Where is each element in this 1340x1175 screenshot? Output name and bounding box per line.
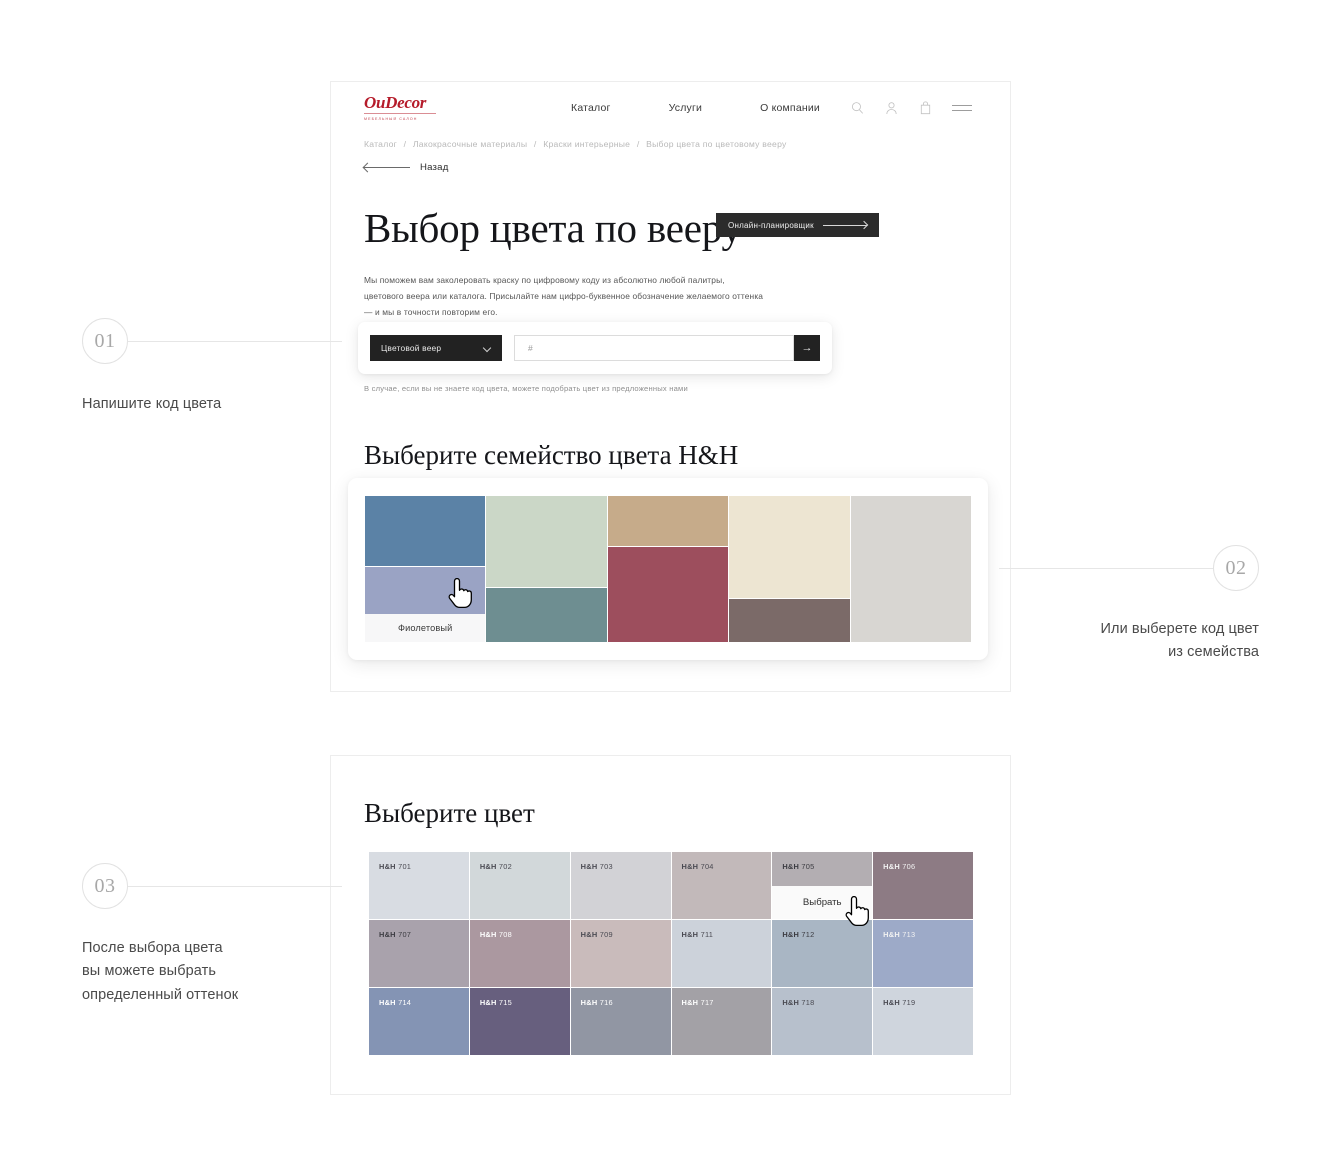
swatch-number: 718	[801, 998, 814, 1007]
swatch-cell[interactable]: H&H 701	[369, 852, 469, 919]
nav-item-about[interactable]: О компании	[760, 102, 820, 114]
bag-icon[interactable]	[918, 100, 933, 116]
swatch-code: H&H 719	[883, 998, 915, 1007]
swatch-grid: H&H 701 H&H 702 H&H 703 H&H 704	[369, 852, 973, 1055]
annotation-line: Или выберете код цвет	[999, 618, 1259, 641]
swatch-prefix: H&H	[480, 930, 497, 939]
family-column-violet[interactable]: Фиолетовый	[365, 496, 485, 642]
swatch-code: H&H 709	[581, 930, 613, 939]
swatch-section-title: Выберите цвет	[364, 798, 535, 829]
swatch-cell[interactable]: H&H 715	[470, 988, 570, 1055]
intro-line-2: цветового веера или каталога. Присылайте…	[364, 288, 763, 304]
family-swatch-top[interactable]	[365, 496, 485, 566]
arrow-right-icon	[824, 222, 867, 229]
annotation-connector-line	[128, 886, 342, 887]
swatch-prefix: H&H	[883, 930, 900, 939]
family-card: Фиолетовый	[348, 478, 988, 660]
family-column-cream-brown[interactable]	[729, 496, 849, 642]
swatch-cell-selected[interactable]: H&H 705 Выбрать	[772, 852, 872, 919]
back-link[interactable]: Назад	[364, 162, 449, 173]
swatch-code: H&H 718	[782, 998, 814, 1007]
color-code-placeholder: #	[528, 343, 533, 353]
swatch-code: H&H 713	[883, 930, 915, 939]
swatch-cell[interactable]: H&H 716	[571, 988, 671, 1055]
swatch-code: H&H 716	[581, 998, 613, 1007]
family-grid: Фиолетовый	[365, 496, 971, 642]
swatch-prefix: H&H	[379, 930, 396, 939]
annotation-connector-line	[999, 568, 1213, 569]
swatch-code: H&H 717	[682, 998, 714, 1007]
form-hint: В случае, если вы не знаете код цвета, м…	[364, 384, 688, 393]
swatch-cell[interactable]: H&H 702	[470, 852, 570, 919]
family-column-beige-red[interactable]	[608, 496, 728, 642]
logo-rule	[364, 113, 436, 114]
swatch-number: 708	[499, 930, 512, 939]
annotation-text: После выбора цвета вы можете выбрать опр…	[82, 937, 342, 1007]
swatch-code: H&H 704	[682, 862, 714, 871]
online-planner-label: Онлайн-планировщик	[728, 221, 814, 230]
nav-item-services[interactable]: Услуги	[669, 102, 703, 114]
arrow-left-icon	[364, 163, 410, 172]
swatch-number: 704	[701, 862, 714, 871]
swatch-number: 703	[600, 862, 613, 871]
logo-subtitle: МЕБЕЛЬНЫЙ САЛОН	[364, 117, 444, 121]
swatch-cell[interactable]: H&H 704	[672, 852, 772, 919]
swatch-cell[interactable]: H&H 717	[672, 988, 772, 1055]
swatch-prefix: H&H	[581, 998, 598, 1007]
arrow-right-icon: →	[802, 343, 813, 354]
swatch-number: 715	[499, 998, 512, 1007]
swatch-cell[interactable]: H&H 709	[571, 920, 671, 987]
swatch-code: H&H 712	[782, 930, 814, 939]
annotation-line: После выбора цвета	[82, 937, 342, 960]
swatch-prefix: H&H	[682, 862, 699, 871]
breadcrumb-item-0[interactable]: Каталог	[364, 139, 397, 149]
chevron-down-icon	[484, 345, 491, 352]
back-label: Назад	[420, 162, 449, 173]
swatch-cell[interactable]: H&H 714	[369, 988, 469, 1055]
swatch-number: 711	[701, 930, 714, 939]
logo-wordmark: OuDecor	[364, 94, 444, 111]
main-nav: Каталог Услуги О компании	[571, 102, 820, 114]
online-planner-button[interactable]: Онлайн-планировщик	[716, 213, 879, 237]
annotation-text: Или выберете код цвет из семейства	[999, 618, 1259, 665]
swatch-code: H&H 715	[480, 998, 512, 1007]
logo[interactable]: OuDecor МЕБЕЛЬНЫЙ САЛОН	[364, 94, 444, 121]
swatch-cell[interactable]: H&H 719	[873, 988, 973, 1055]
page-title: Выбор цвета по вееру	[364, 204, 742, 252]
swatch-prefix: H&H	[480, 862, 497, 871]
page-card-bottom: Выберите цвет H&H 701 H&H 702 H&H 703	[330, 755, 1011, 1095]
swatch-code: H&H 708	[480, 930, 512, 939]
annotation-01: 01 Напишите код цвета	[82, 318, 342, 416]
breadcrumb-item-1[interactable]: Лакокрасочные материалы	[413, 139, 527, 149]
swatch-prefix: H&H	[782, 862, 799, 871]
swatch-cell[interactable]: H&H 703	[571, 852, 671, 919]
family-swatch-top[interactable]	[486, 496, 606, 587]
family-label-violet: Фиолетовый	[365, 614, 485, 642]
swatch-prefix: H&H	[782, 930, 799, 939]
swatch-prefix: H&H	[379, 862, 396, 871]
swatch-prefix: H&H	[883, 998, 900, 1007]
swatch-prefix: H&H	[581, 862, 598, 871]
family-swatch-bottom[interactable]	[729, 599, 849, 642]
color-code-input[interactable]: #	[514, 335, 794, 361]
annotation-number-badge: 03	[82, 863, 128, 909]
breadcrumb: Каталог / Лакокрасочные материалы / Крас…	[364, 139, 787, 149]
swatch-code: H&H 703	[581, 862, 613, 871]
swatch-code: H&H 702	[480, 862, 512, 871]
swatch-number: 707	[398, 930, 411, 939]
breadcrumb-item-3: Выбор цвета по цветовому вееру	[646, 139, 786, 149]
annotation-connector-line	[128, 341, 342, 342]
select-swatch-button[interactable]: Выбрать	[772, 886, 872, 919]
swatch-number: 701	[398, 862, 411, 871]
page-root: OuDecor МЕБЕЛЬНЫЙ САЛОН Каталог Услуги О…	[0, 0, 1340, 1175]
swatch-code: H&H 707	[379, 930, 411, 939]
annotation-line: определенный оттенок	[82, 984, 342, 1007]
swatch-number: 713	[902, 930, 915, 939]
swatch-number: 702	[499, 862, 512, 871]
swatch-number: 709	[600, 930, 613, 939]
family-swatch-top[interactable]	[608, 496, 728, 546]
swatch-prefix: H&H	[581, 930, 598, 939]
swatch-cell[interactable]: H&H 718	[772, 988, 872, 1055]
intro-line-3: — и мы в точности повторим его.	[364, 304, 763, 320]
swatch-prefix: H&H	[379, 998, 396, 1007]
swatch-number: 705	[801, 862, 814, 871]
nav-item-catalog[interactable]: Каталог	[571, 102, 611, 114]
swatch-cell[interactable]: H&H 711	[672, 920, 772, 987]
annotation-03: 03 После выбора цвета вы можете выбрать …	[82, 863, 342, 1007]
swatch-prefix: H&H	[682, 930, 699, 939]
swatch-code: H&H 705	[782, 862, 814, 871]
menu-icon[interactable]	[952, 105, 972, 112]
intro-line-1: Мы поможем вам заколеровать краску по ци…	[364, 272, 763, 288]
swatch-number: 706	[902, 862, 915, 871]
swatch-cell[interactable]: H&H 712	[772, 920, 872, 987]
swatch-code: H&H 706	[883, 862, 915, 871]
swatch-prefix: H&H	[883, 862, 900, 871]
palette-select[interactable]: Цветовой веер	[370, 335, 502, 361]
annotation-line: вы можете выбрать	[82, 960, 342, 983]
swatch-code: H&H 714	[379, 998, 411, 1007]
swatch-prefix: H&H	[480, 998, 497, 1007]
swatch-number: 716	[600, 998, 613, 1007]
swatch-number: 719	[902, 998, 915, 1007]
family-column-grey[interactable]	[851, 496, 971, 642]
family-swatch-top[interactable]	[729, 496, 849, 598]
swatch-number: 717	[701, 998, 714, 1007]
swatch-cell[interactable]: H&H 707	[369, 920, 469, 987]
swatch-prefix: H&H	[682, 998, 699, 1007]
swatch-number: 712	[801, 930, 814, 939]
annotation-02: 02 Или выберете код цвет из семейства	[999, 545, 1259, 665]
search-icon[interactable]	[850, 100, 865, 116]
family-column-green[interactable]	[486, 496, 606, 642]
swatch-code: H&H 701	[379, 862, 411, 871]
color-code-form: Цветовой веер # →	[358, 322, 832, 374]
annotation-line: Напишите код цвета	[82, 393, 342, 416]
intro-paragraph: Мы поможем вам заколеровать краску по ци…	[364, 272, 763, 320]
palette-select-value: Цветовой веер	[381, 343, 441, 353]
breadcrumb-separator: /	[400, 139, 411, 149]
submit-button[interactable]: →	[794, 335, 820, 361]
annotation-text: Напишите код цвета	[82, 393, 342, 416]
family-swatch-bottom[interactable]	[608, 547, 728, 642]
swatch-prefix: H&H	[782, 998, 799, 1007]
breadcrumb-item-2[interactable]: Краски интерьерные	[543, 139, 630, 149]
breadcrumb-separator: /	[530, 139, 541, 149]
annotation-number-badge: 01	[82, 318, 128, 364]
family-section-title: Выберите семейство цвета H&H	[364, 440, 738, 471]
page-card-top: OuDecor МЕБЕЛЬНЫЙ САЛОН Каталог Услуги О…	[330, 81, 1011, 692]
swatch-code: H&H 711	[682, 930, 714, 939]
header-icons	[850, 100, 972, 116]
swatch-cell[interactable]: H&H 713	[873, 920, 973, 987]
annotation-line: из семейства	[999, 641, 1259, 664]
breadcrumb-separator: /	[633, 139, 644, 149]
swatch-cell[interactable]: H&H 708	[470, 920, 570, 987]
user-icon[interactable]	[884, 100, 899, 116]
family-swatch-top[interactable]	[851, 496, 971, 642]
swatch-number: 714	[398, 998, 411, 1007]
family-swatch-bottom[interactable]	[486, 588, 606, 642]
annotation-number-badge: 02	[1213, 545, 1259, 591]
site-header: OuDecor МЕБЕЛЬНЫЙ САЛОН Каталог Услуги О…	[331, 82, 1010, 136]
swatch-cell[interactable]: H&H 706	[873, 852, 973, 919]
